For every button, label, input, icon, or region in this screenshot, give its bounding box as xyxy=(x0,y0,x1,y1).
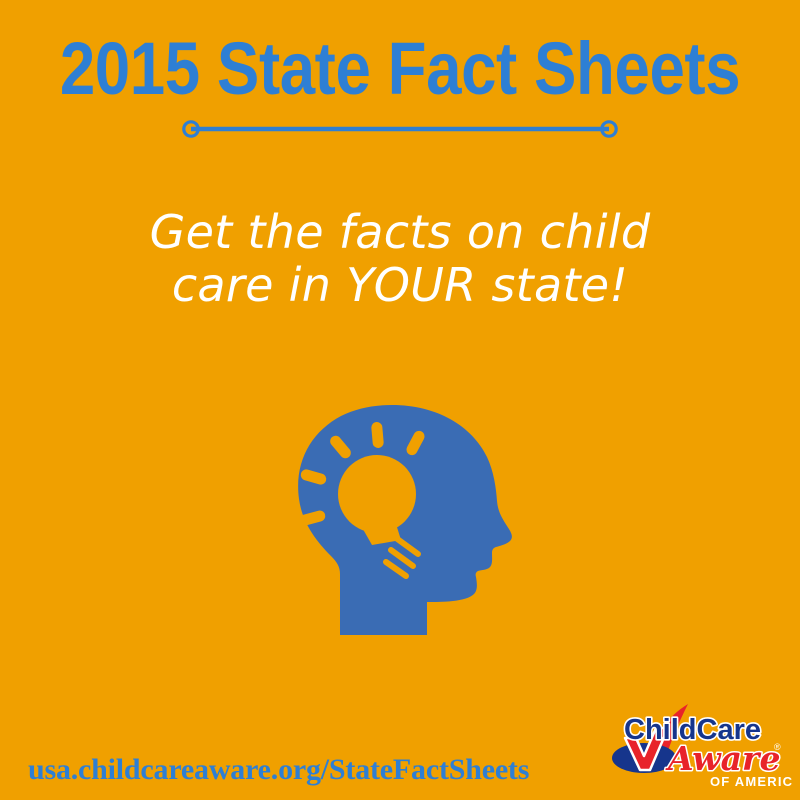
logo-tagline: OF AMERICA xyxy=(710,774,792,789)
registered-mark: ® xyxy=(774,742,781,752)
head-with-lightbulb-svg xyxy=(296,404,524,636)
subtitle-line-1: Get the facts on child xyxy=(100,206,700,259)
head-with-lightbulb-icon xyxy=(296,404,524,636)
line-with-end-circles-divider xyxy=(0,119,800,139)
poster-canvas: 2015 State Fact Sheets Get the facts on … xyxy=(0,0,800,800)
child-care-aware-logo-svg: ChildCare Aware ® OF AMERICA xyxy=(606,694,792,790)
child-care-aware-logo[interactable]: ChildCare Aware ® OF AMERICA xyxy=(606,694,792,790)
logo-aware-text: Aware xyxy=(665,739,780,778)
page-title: 2015 State Fact Sheets xyxy=(56,26,744,112)
divider xyxy=(0,119,800,139)
footer-url[interactable]: usa.childcareaware.org/StateFactSheets xyxy=(28,752,529,788)
subtitle: Get the facts on child care in YOUR stat… xyxy=(100,206,700,312)
subtitle-line-2: care in YOUR state! xyxy=(100,259,700,312)
